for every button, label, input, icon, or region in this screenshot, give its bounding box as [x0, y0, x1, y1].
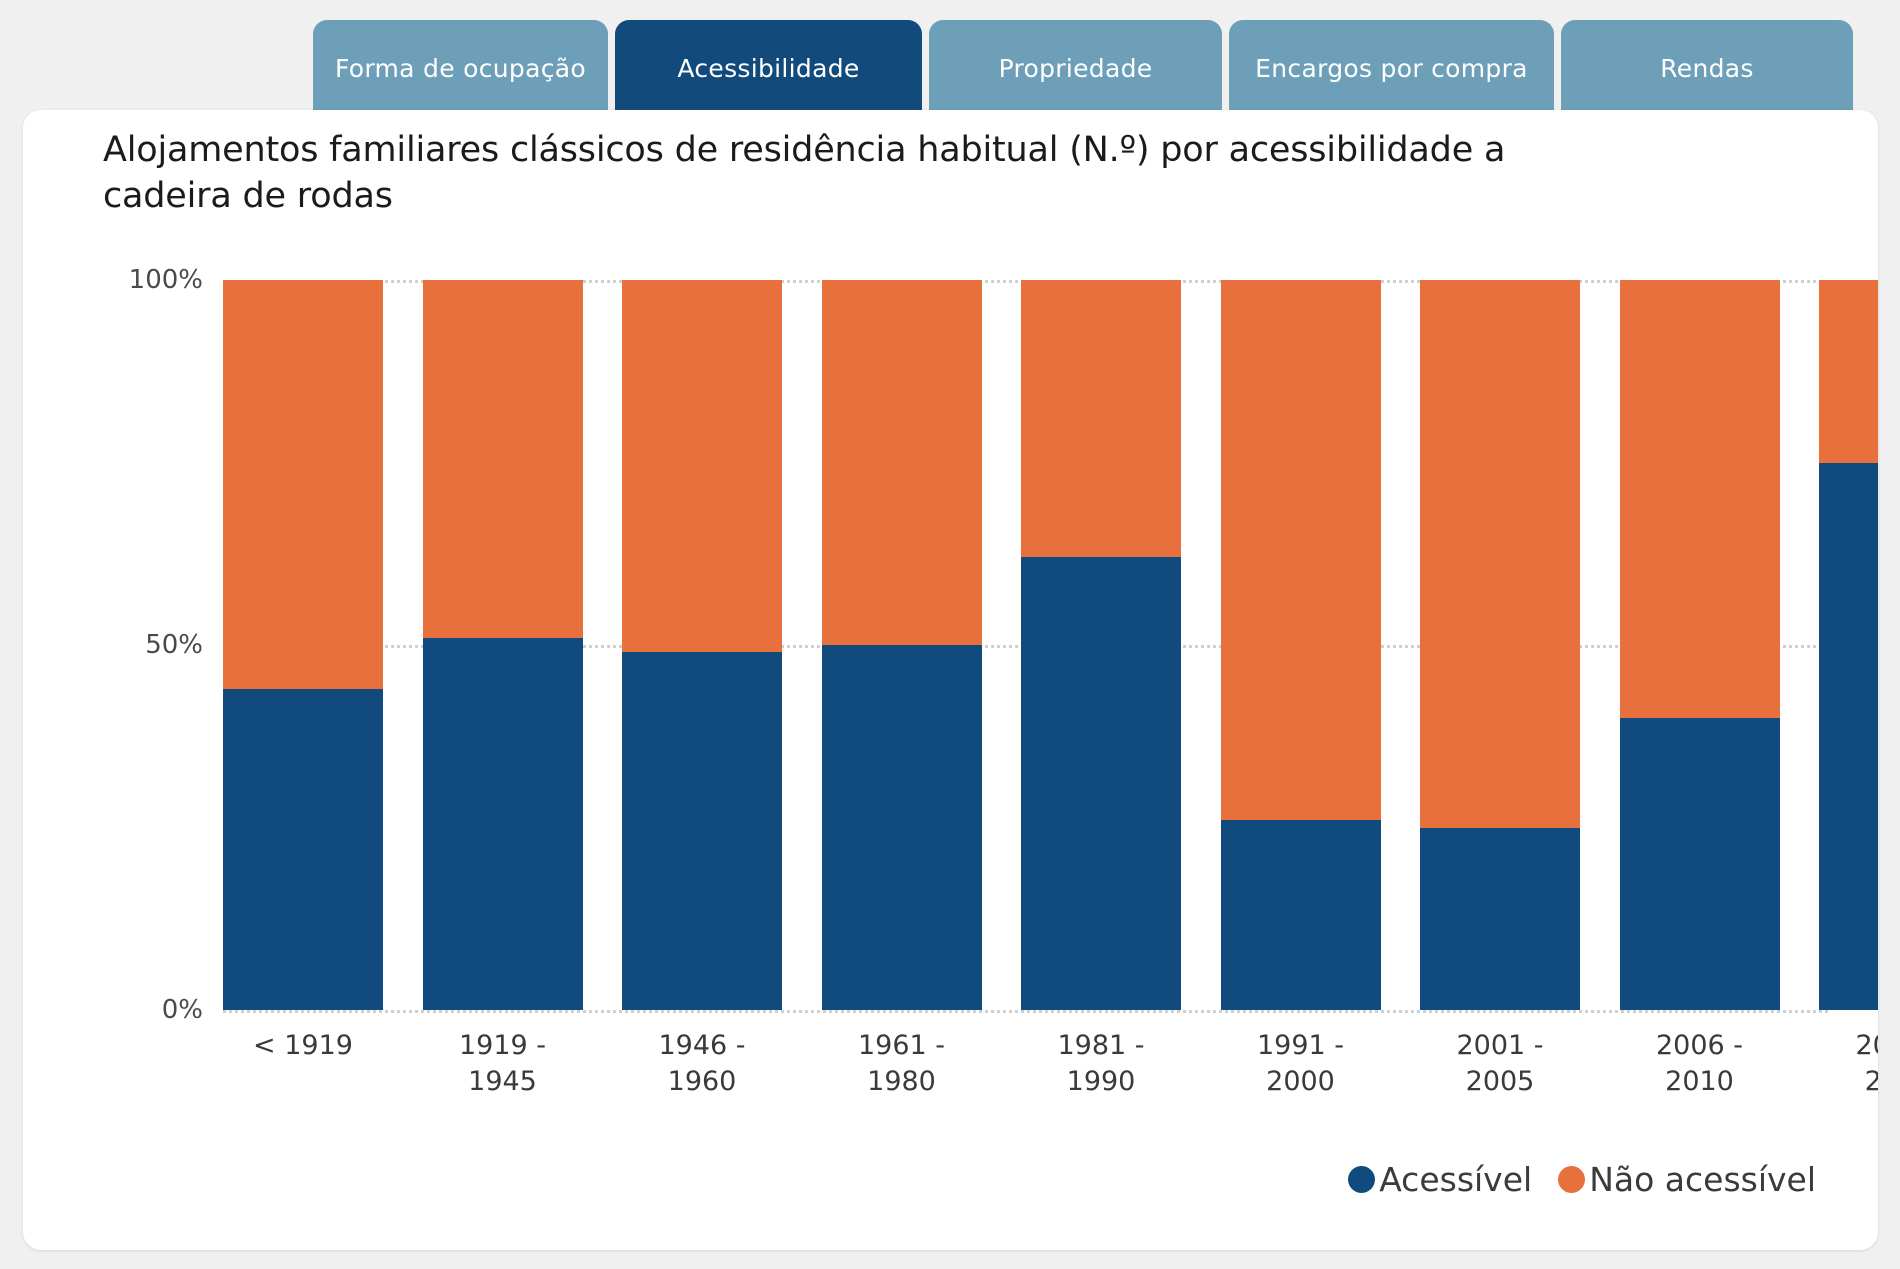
bar-segment-acessivel[interactable]	[1420, 828, 1580, 1011]
x-axis-tick-label: < 1919	[223, 1028, 383, 1100]
bar-group	[223, 280, 1828, 1010]
chart-legend: Acessível Não acessível	[1322, 1160, 1816, 1199]
bar-segment-acessivel[interactable]	[223, 689, 383, 1010]
bar-segment-acessivel[interactable]	[622, 652, 782, 1010]
bar-column[interactable]	[1021, 280, 1181, 1010]
bar-segment-nao-acessivel[interactable]	[423, 280, 583, 638]
tab-label: Forma de ocupação	[335, 54, 586, 83]
bar-segment-nao-acessivel[interactable]	[1420, 280, 1580, 828]
x-axis-tick-label: 1961 -1980	[822, 1028, 982, 1100]
x-axis-labels: < 19191919 -19451946 -19601961 -19801981…	[223, 1028, 1828, 1100]
legend-label: Não acessível	[1589, 1160, 1816, 1199]
tab-label: Propriedade	[999, 54, 1153, 83]
x-axis-tick-label: 2011 -2015	[1819, 1028, 1878, 1100]
bar-column[interactable]	[1221, 280, 1381, 1010]
bar-column[interactable]	[423, 280, 583, 1010]
bar-segment-acessivel[interactable]	[1620, 718, 1780, 1010]
tab-acessibilidade[interactable]: Acessibilidade	[615, 20, 922, 116]
bar-segment-nao-acessivel[interactable]	[1221, 280, 1381, 820]
bar-segment-nao-acessivel[interactable]	[822, 280, 982, 645]
y-axis-tick-label: 100%	[129, 265, 203, 295]
bar-segment-nao-acessivel[interactable]	[1021, 280, 1181, 557]
bar-column[interactable]	[223, 280, 383, 1010]
tab-label: Rendas	[1660, 54, 1754, 83]
x-axis-tick-label: 1981 -1990	[1021, 1028, 1181, 1100]
bar-segment-acessivel[interactable]	[822, 645, 982, 1010]
legend-swatch-icon	[1348, 1166, 1375, 1193]
bar-segment-acessivel[interactable]	[1819, 463, 1878, 1011]
tab-forma-de-ocupacao[interactable]: Forma de ocupação	[313, 20, 608, 116]
legend-swatch-icon	[1558, 1166, 1585, 1193]
page-title: Alojamentos familiares clássicos de resi…	[103, 128, 1603, 219]
tab-bar: Forma de ocupação Acessibilidade Proprie…	[0, 0, 1900, 116]
bar-segment-nao-acessivel[interactable]	[1819, 280, 1878, 463]
bar-segment-nao-acessivel[interactable]	[223, 280, 383, 689]
tab-encargos-por-compra[interactable]: Encargos por compra	[1229, 20, 1554, 116]
legend-item-acessivel[interactable]: Acessível	[1348, 1160, 1532, 1199]
legend-label: Acessível	[1379, 1160, 1532, 1199]
plot-area: 0%50%100%	[223, 280, 1828, 1010]
bar-segment-nao-acessivel[interactable]	[1620, 280, 1780, 718]
bar-column[interactable]	[1819, 280, 1878, 1010]
y-axis-tick-label: 0%	[162, 995, 203, 1025]
legend-item-nao-acessivel[interactable]: Não acessível	[1558, 1160, 1816, 1199]
x-axis-tick-label: 2006 -2010	[1620, 1028, 1780, 1100]
y-axis-tick-label: 50%	[145, 630, 203, 660]
x-axis-tick-label: 1946 -1960	[622, 1028, 782, 1100]
chart-card: Alojamentos familiares clássicos de resi…	[23, 110, 1878, 1250]
bar-segment-acessivel[interactable]	[1221, 820, 1381, 1010]
x-axis-tick-label: 1991 -2000	[1221, 1028, 1381, 1100]
tab-rendas[interactable]: Rendas	[1561, 20, 1853, 116]
tab-label: Acessibilidade	[677, 54, 859, 83]
gridline	[223, 1010, 1828, 1013]
tab-propriedade[interactable]: Propriedade	[929, 20, 1222, 116]
x-axis-tick-label: 2001 -2005	[1420, 1028, 1580, 1100]
tab-label: Encargos por compra	[1255, 54, 1528, 83]
bar-segment-nao-acessivel[interactable]	[622, 280, 782, 652]
bar-segment-acessivel[interactable]	[1021, 557, 1181, 1010]
bar-column[interactable]	[822, 280, 982, 1010]
x-axis-tick-label: 1919 -1945	[423, 1028, 583, 1100]
bar-column[interactable]	[622, 280, 782, 1010]
bar-column[interactable]	[1620, 280, 1780, 1010]
bar-column[interactable]	[1420, 280, 1580, 1010]
bar-segment-acessivel[interactable]	[423, 638, 583, 1010]
